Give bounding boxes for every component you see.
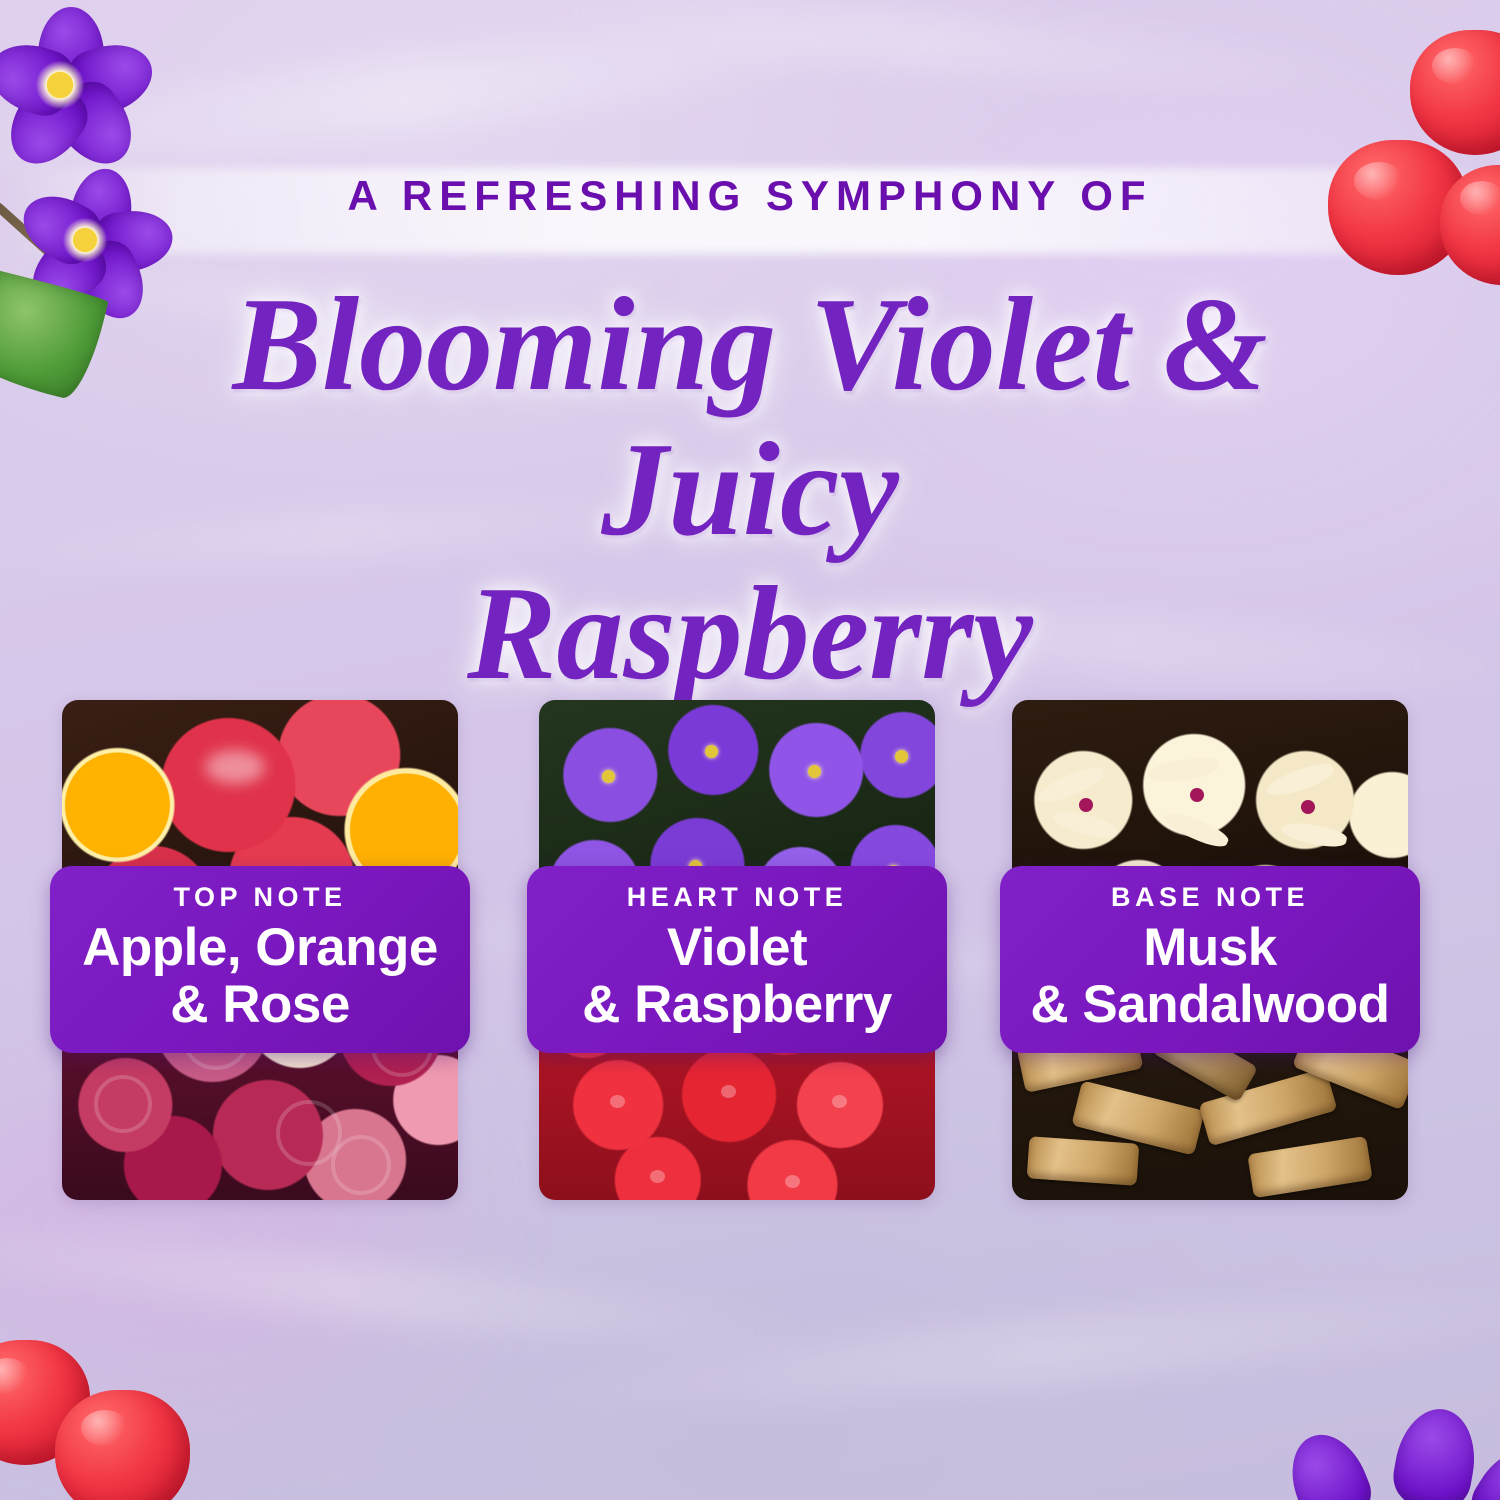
note-card-base[interactable]: BASE NOTE Musk & Sandalwood — [1000, 700, 1420, 1208]
note-name-line-1: Musk — [1008, 919, 1412, 976]
eyebrow-text: A REFRESHING SYMPHONY OF — [0, 172, 1500, 220]
page-title: Blooming Violet & Juicy Raspberry — [100, 272, 1400, 706]
note-card-heart[interactable]: HEART NOTE Violet & Raspberry — [527, 700, 947, 1208]
note-label-panel: TOP NOTE Apple, Orange & Rose — [50, 866, 470, 1053]
note-card-top[interactable]: TOP NOTE Apple, Orange & Rose — [50, 700, 470, 1208]
note-label-panel: HEART NOTE Violet & Raspberry — [527, 866, 947, 1053]
note-label-panel: BASE NOTE Musk & Sandalwood — [1000, 866, 1420, 1053]
headline-line-2: Raspberry — [100, 561, 1400, 706]
note-name-line-2: & Sandalwood — [1008, 976, 1412, 1033]
note-name-line-2: & Rose — [58, 976, 462, 1033]
note-name-line-1: Apple, Orange — [58, 919, 462, 976]
note-kicker: TOP NOTE — [58, 882, 462, 913]
fragrance-notes-row: TOP NOTE Apple, Orange & Rose — [0, 700, 1500, 1220]
note-name-line-1: Violet — [535, 919, 939, 976]
note-name-line-2: & Raspberry — [535, 976, 939, 1033]
note-kicker: HEART NOTE — [535, 882, 939, 913]
note-kicker: BASE NOTE — [1008, 882, 1412, 913]
promo-graphic: A REFRESHING SYMPHONY OF Blooming Violet… — [0, 0, 1500, 1500]
headline-line-1: Blooming Violet & Juicy — [233, 270, 1268, 563]
